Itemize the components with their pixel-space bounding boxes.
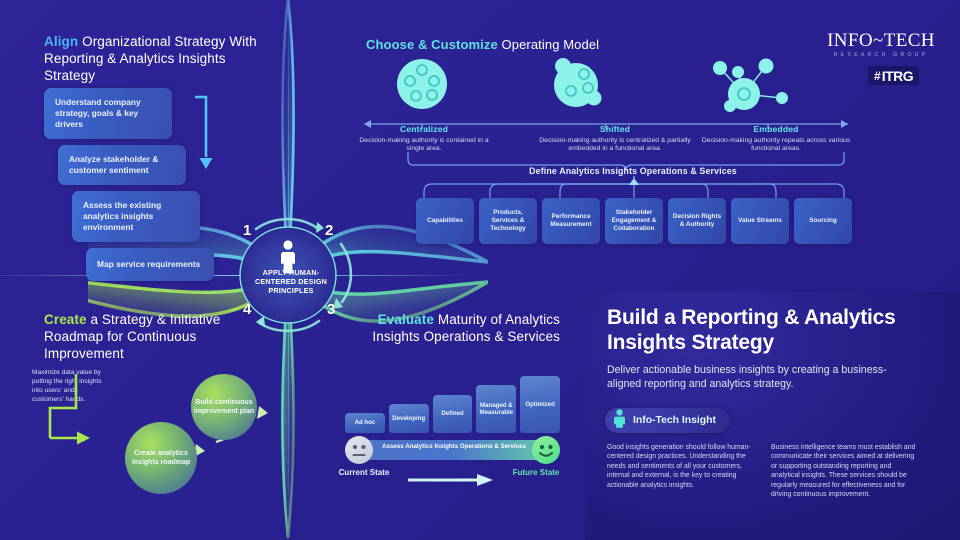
- maturity-level-developing[interactable]: Developing: [389, 404, 429, 433]
- gauge-label: Assess Analytics Insights Operations & S…: [379, 443, 529, 451]
- shifted-cluster-icon: [548, 54, 608, 117]
- insight-column-2: Business intelligence teams must establi…: [771, 443, 919, 499]
- choose-title-accent: Choose & Customize: [366, 37, 498, 52]
- state-progress-arrow-icon: [408, 473, 493, 485]
- star-number-3: 3: [327, 301, 335, 318]
- evaluate-section-heading: Evaluate Maturity of Analytics Insights …: [340, 311, 560, 345]
- insight-column-1: Good insights generation should follow h…: [607, 443, 755, 499]
- create-roadmap-graphic: Create analytics insights roadmap Build …: [28, 362, 278, 502]
- centralized-cluster-icon: [394, 56, 450, 117]
- create-title-accent: Create: [44, 312, 87, 327]
- service-performance-measurement[interactable]: Performance Measurement: [542, 198, 600, 244]
- hero-subtitle: Deliver actionable business insights by …: [607, 363, 919, 391]
- itrg-text: ITRG: [882, 68, 913, 84]
- maturity-level-defined[interactable]: Defined: [433, 395, 473, 433]
- current-state-face-icon: [345, 436, 373, 464]
- logo-wordmark: INFO~TECH: [821, 31, 941, 51]
- current-state-label: Current State: [333, 468, 395, 478]
- align-section-heading: Align Organizational Strategy With Repor…: [44, 33, 274, 84]
- evaluate-title-accent: Evaluate: [378, 312, 434, 327]
- infographic-canvas: 1 2 3 4 APPLY HUMAN-CENTERED DESIGN PRIN…: [0, 0, 960, 540]
- model-shifted: Shifted Decision-making authority is cen…: [524, 124, 706, 153]
- create-section-heading: Create a Strategy & Initiative Roadmap f…: [44, 311, 259, 362]
- define-services-title: Define Analytics Insights Operations & S…: [418, 166, 848, 176]
- services-row: Capabilities Products, Services & Techno…: [416, 198, 852, 244]
- future-state-face-icon: [532, 436, 560, 464]
- insight-columns: Good insights generation should follow h…: [607, 443, 919, 499]
- maturity-staircase: Ad hoc Developing Defined Managed & Meas…: [345, 375, 560, 433]
- choose-section-heading: Choose & Customize Operating Model: [366, 36, 599, 53]
- create-bubble-improvement[interactable]: Build continuous improvement plan: [191, 374, 257, 440]
- info-tech-insight-badge: Info-Tech Insight: [605, 408, 730, 433]
- align-down-arrow-icon: [193, 95, 219, 173]
- align-step-2[interactable]: Analyze stakeholder & customer sentiment: [58, 145, 186, 185]
- align-step-3[interactable]: Assess the existing analytics insights e…: [72, 191, 200, 242]
- info-tech-logo: INFO~TECH RESEARCH GROUP: [821, 31, 941, 58]
- align-step-list: Understand company strategy, goals & key…: [44, 88, 274, 287]
- service-capabilities[interactable]: Capabilities: [416, 198, 474, 244]
- insight-badge-label: Info-Tech Insight: [633, 415, 716, 426]
- service-sourcing[interactable]: Sourcing: [794, 198, 852, 244]
- align-title-accent: Align: [44, 34, 78, 49]
- itrg-hash: #: [874, 69, 881, 83]
- star-number-2: 2: [325, 222, 333, 239]
- maturity-level-optimized[interactable]: Optimized: [520, 376, 560, 433]
- service-value-streams[interactable]: Value Streams: [731, 198, 789, 244]
- choose-title-rest: Operating Model: [498, 37, 599, 52]
- future-state-label: Future State: [505, 468, 567, 478]
- maturity-gauge: Assess Analytics Insights Operations & S…: [345, 436, 560, 464]
- service-decision-rights[interactable]: Decision Rights & Authority: [668, 198, 726, 244]
- embedded-network-icon: [696, 52, 812, 119]
- maturity-level-managed[interactable]: Managed & Measurable: [476, 385, 516, 433]
- maturity-level-ad-hoc[interactable]: Ad hoc: [345, 413, 385, 433]
- logo-tagline: RESEARCH GROUP: [821, 52, 941, 58]
- create-bubble-roadmap[interactable]: Create analytics insights roadmap: [125, 422, 197, 494]
- itrg-badge: # ITRG: [868, 66, 919, 85]
- model-centralized: Centralized Decision-making authority is…: [358, 124, 490, 153]
- service-products-services-technology[interactable]: Products, Services & Technology: [479, 198, 537, 244]
- model-embedded: Embedded Decision-making authority repea…: [692, 124, 860, 153]
- service-stakeholder-engagement[interactable]: Stakeholder Engagement & Collaboration: [605, 198, 663, 244]
- align-step-4[interactable]: Map service requirements: [86, 248, 214, 281]
- page-title: Build a Reporting & Analytics Insights S…: [607, 305, 927, 355]
- person-icon: [613, 409, 626, 433]
- align-step-1[interactable]: Understand company strategy, goals & key…: [44, 88, 172, 139]
